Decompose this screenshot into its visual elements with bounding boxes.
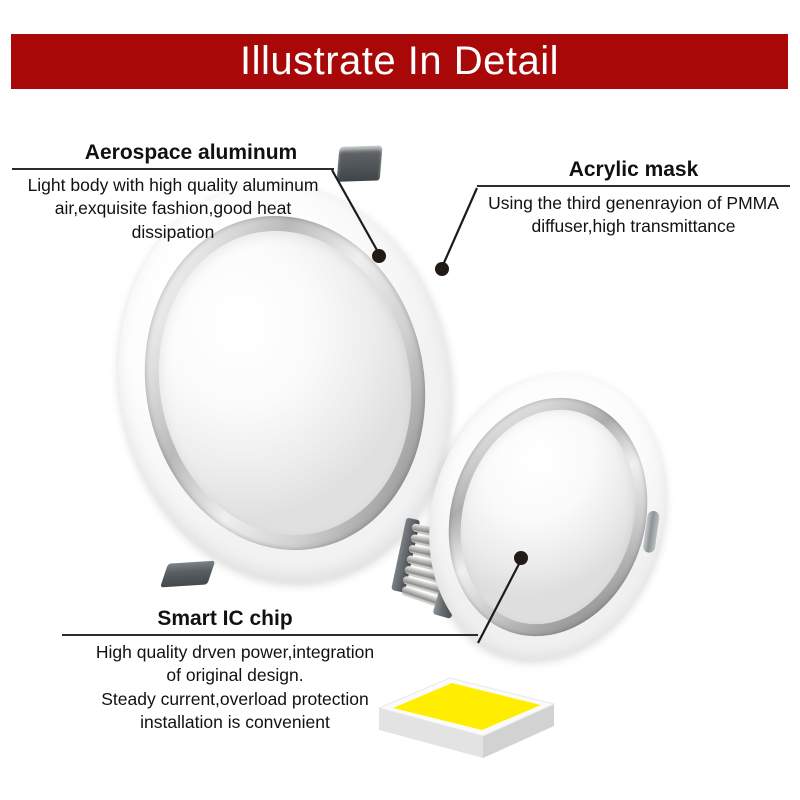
large-downlight-clip-top — [337, 146, 383, 182]
callout-body-line: dissipation — [12, 221, 334, 244]
callout-title: Acrylic mask — [477, 158, 790, 181]
callout-body-line: air,exquisite fashion,good heat — [12, 197, 334, 220]
callout-body: High quality drven power,integration of … — [62, 636, 478, 734]
large-downlight-clip-bottom — [160, 561, 215, 588]
callout-title: Aerospace aluminum — [12, 141, 334, 164]
callout-body-line: Using the third genenrayion of PMMA — [477, 192, 790, 215]
callout-body-line: of original design. — [62, 664, 408, 687]
callout-aerospace-aluminum: Aerospace aluminum Light body with high … — [12, 141, 334, 244]
callout-body: Light body with high quality aluminum ai… — [12, 170, 334, 244]
infographic-page: Illustrate In Detail — [0, 0, 800, 800]
callout-body: Using the third genenrayion of PMMA diff… — [477, 187, 790, 239]
callout-body-line: diffuser,high transmittance — [477, 215, 790, 238]
callout-body-line: Steady current,overload protection — [62, 688, 408, 711]
callout-title: Smart IC chip — [62, 607, 478, 630]
callout-acrylic-mask: Acrylic mask Using the third genenrayion… — [477, 158, 790, 239]
callout-body-line: Light body with high quality aluminum — [12, 174, 334, 197]
callout-body-line: High quality drven power,integration — [62, 641, 408, 664]
callout-smart-ic-chip: Smart IC chip High quality drven power,i… — [62, 607, 478, 734]
callout-body-line: installation is convenient — [62, 711, 408, 734]
